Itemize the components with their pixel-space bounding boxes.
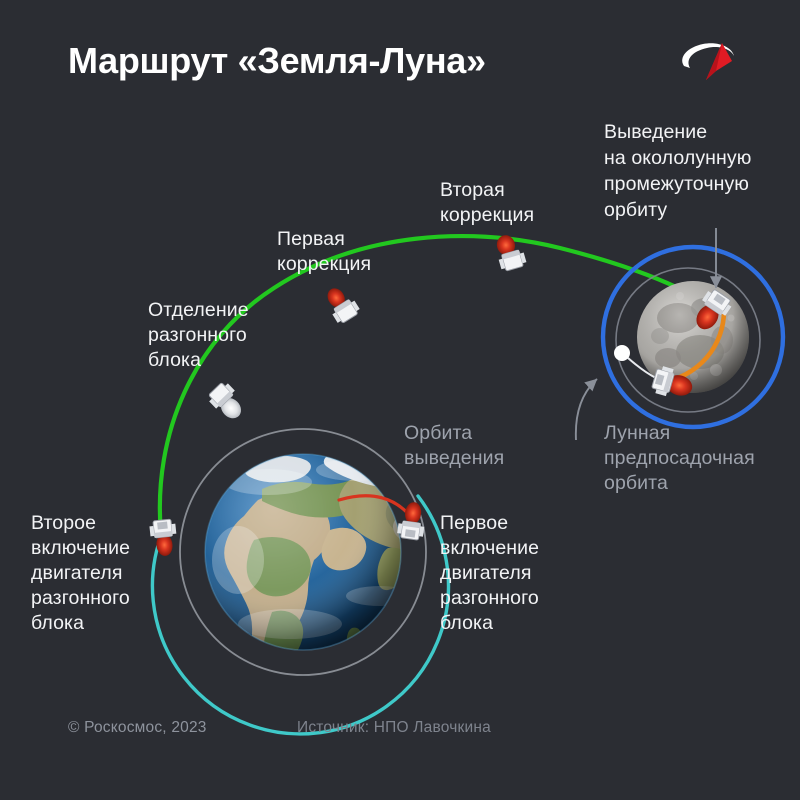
source-text: Источник: НПО Лавочкина [297,719,491,737]
label-first-correction: Первая коррекция [277,227,371,277]
label-second-burn: Второе включение двигателя разгонного бл… [31,511,130,636]
label-lunar-prelanding-orbit: Лунная предпосадочная орбита [604,421,755,496]
spacecraft-first-correction [321,282,362,325]
label-second-correction: Вторая коррекция [440,178,534,228]
copyright-text: © Роскосмос, 2023 [68,719,207,737]
earth-graphic [205,445,467,684]
infographic-poster: Маршрут «Земля-Луна» Выведение на околол… [0,0,800,800]
page-title: Маршрут «Земля-Луна» [68,40,486,82]
spacecraft-separation [206,380,250,424]
spacecraft-second-burn [149,519,179,558]
label-launch-orbit: Орбита выведения [404,421,504,471]
label-orbit-insertion: Выведение на окололунную промежуточную о… [604,119,752,223]
roscosmos-logo [676,38,742,84]
label-separation: Отделение разгонного блока [148,298,249,373]
label-first-burn: Первое включение двигателя разгонного бл… [440,511,539,636]
lunar-prelanding-arrow [576,379,597,440]
